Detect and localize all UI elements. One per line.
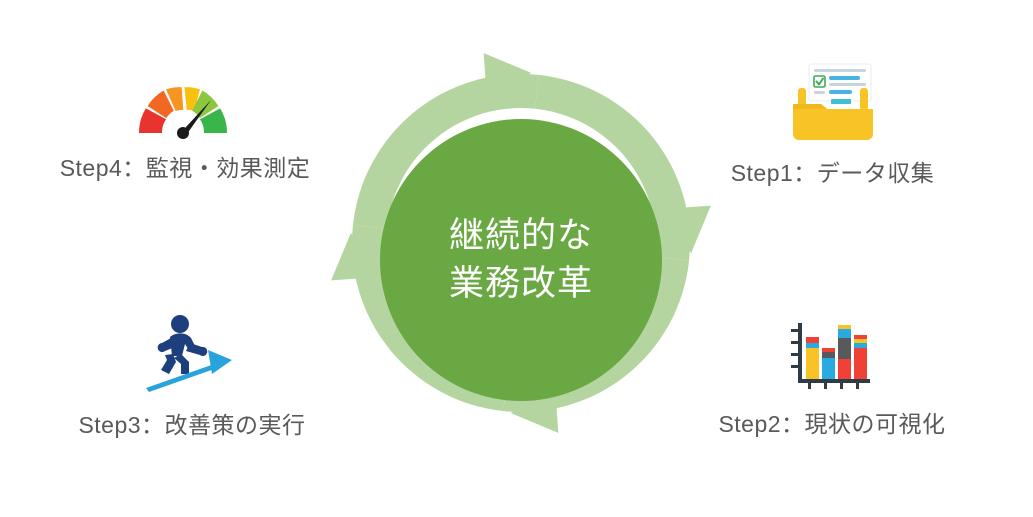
step-3-label: Step3：改善策の実行	[78, 410, 305, 440]
center-title-line-2: 業務改革	[449, 260, 593, 308]
step-3[interactable]: Step3：改善策の実行	[52, 312, 332, 440]
folder-document-check-icon	[779, 60, 887, 146]
gauge-meter-icon	[133, 75, 237, 141]
gauge-segments	[139, 87, 227, 133]
step-2-label: Step2：現状の可視化	[718, 409, 945, 439]
running-person-arrow-icon	[140, 312, 244, 398]
step-1-label: Step1：データ収集	[731, 158, 935, 188]
cycle-ring: 継続的な 業務改革	[311, 33, 731, 485]
stacked-bar-chart-icon	[782, 315, 882, 397]
step-2[interactable]: Step2：現状の可視化	[692, 315, 972, 439]
diagram-canvas: 継続的な 業務改革 Step1：データ収集	[0, 0, 1033, 517]
step-4[interactable]: Step4：監視・効果測定	[40, 75, 330, 183]
person-glyph	[158, 315, 208, 374]
step-1[interactable]: Step1：データ収集	[700, 60, 965, 188]
center-circle: 継続的な 業務改革	[380, 119, 662, 401]
step-4-label: Step4：監視・効果測定	[60, 153, 311, 183]
center-title-line-1: 継続的な	[449, 212, 593, 260]
